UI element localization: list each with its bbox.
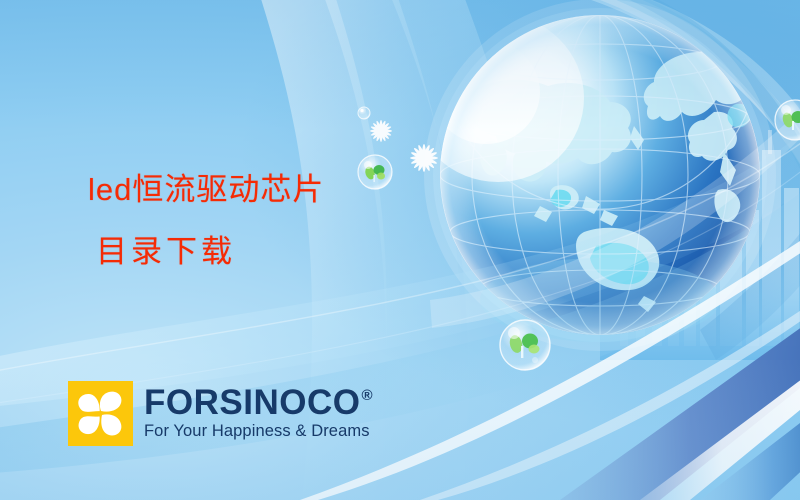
sparkle-asterisk-2 xyxy=(410,144,438,172)
logo-wordmark-text: FORSINOCO xyxy=(144,386,360,420)
bubble-green-tree xyxy=(500,320,550,370)
petal-top-left xyxy=(77,392,101,415)
sparkle-asterisk-1 xyxy=(370,120,392,142)
company-logo[interactable]: FORSINOCO ® For Your Happiness & Dreams xyxy=(68,381,373,446)
headline-line-1: led恒流驱动芯片 xyxy=(88,174,324,205)
forsinoco-pinwheel-mark xyxy=(68,381,133,446)
logo-wordmark: FORSINOCO ® xyxy=(144,386,373,420)
logo-text-block: FORSINOCO ® For Your Happiness & Dreams xyxy=(144,386,373,441)
logo-tagline: For Your Happiness & Dreams xyxy=(144,422,373,441)
headline-line-2: 目录下载 xyxy=(96,236,236,267)
petal-bottom-right xyxy=(101,414,121,435)
petal-top-right xyxy=(100,392,122,412)
bubble-small-upper xyxy=(358,107,370,119)
registered-trademark-icon: ® xyxy=(361,388,373,403)
bubble-eco-globe xyxy=(358,155,392,189)
promo-banner: led恒流驱动芯片 目录下载 FORSINOCO ® For Your Happ… xyxy=(0,0,800,500)
bubble-edge-right xyxy=(775,100,800,140)
petal-bottom-left xyxy=(77,413,100,436)
